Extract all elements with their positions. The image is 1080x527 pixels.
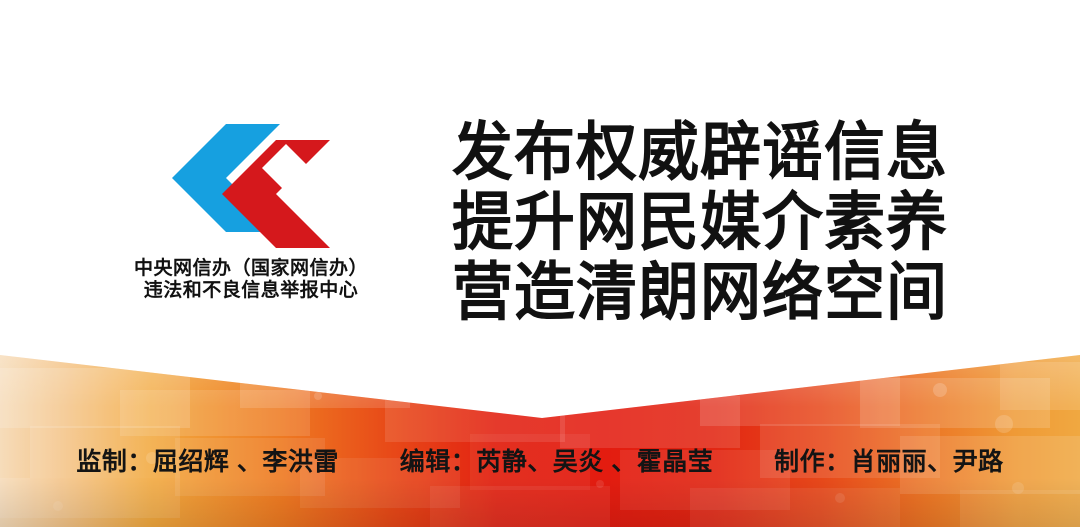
credit-editor-role: 编辑： [400,442,477,478]
credit-designer-role: 制作： [774,442,851,478]
credits-line: 监制：屈绍辉 、李洪雷 编辑：芮静、吴炎 、霍晶莹 制作：肖丽丽、尹路 [0,442,1080,478]
credit-designer-names: 肖丽丽、尹路 [851,442,1004,478]
headline-line-2: 提升网民媒介素养 [452,188,952,261]
banner-graphic [0,338,1080,527]
logo-caption-line-1: 中央网信办（国家网信办） [86,258,416,280]
headline-line-1: 发布权威辟谣信息 [452,118,952,191]
logo-block: 中央网信办（国家网信办） 违法和不良信息举报中心 [86,122,416,312]
logo-caption-line-2: 违法和不良信息举报中心 [86,280,416,302]
top-white-area: 中央网信办（国家网信办） 违法和不良信息举报中心 发布权威辟谣信息 提升网民媒介… [0,0,1080,340]
headline-line-3: 营造清朗网络空间 [452,258,952,331]
poster-canvas: 中央网信办（国家网信办） 违法和不良信息举报中心 发布权威辟谣信息 提升网民媒介… [0,0,1080,527]
credit-producer-names: 屈绍辉 、李洪雷 [153,442,339,478]
credit-editor-names: 芮静、吴炎 、霍晶莹 [476,442,713,478]
logo-caption: 中央网信办（国家网信办） 违法和不良信息举报中心 [86,258,416,303]
bottom-banner: 监制：屈绍辉 、李洪雷 编辑：芮静、吴炎 、霍晶莹 制作：肖丽丽、尹路 [0,338,1080,527]
credit-producer-role: 监制： [76,442,153,478]
headline-block: 发布权威辟谣信息 提升网民媒介素养 营造清朗网络空间 [452,118,952,328]
report-center-logo-icon [86,122,416,250]
